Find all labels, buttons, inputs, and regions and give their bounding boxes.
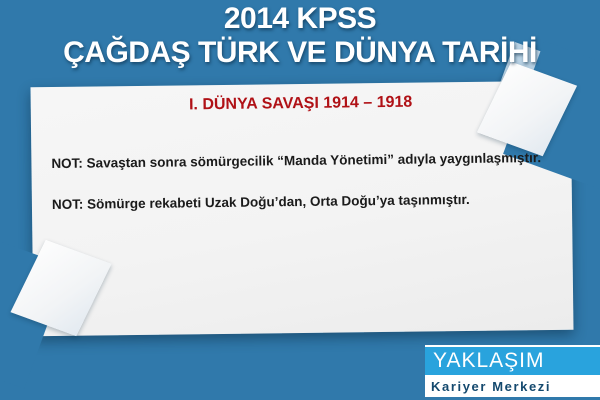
- notes-list: NOT: Savaştan sonra sömürgecilik “Manda …: [31, 148, 572, 215]
- brand-logo: YAKLAŞIM Kariyer Merkezi: [425, 345, 600, 397]
- note-item: NOT: Sömürge rekabeti Uzak Doğu’dan, Ort…: [52, 189, 552, 214]
- logo-subtitle-bar: Kariyer Merkezi: [425, 377, 600, 397]
- title-line-2: ÇAĞDAŞ TÜRK VE DÜNYA TARİHİ: [0, 36, 600, 70]
- slide-canvas: 2014 KPSS ÇAĞDAŞ TÜRK VE DÜNYA TARİHİ I.…: [0, 0, 600, 400]
- logo-name: YAKLAŞIM: [433, 349, 600, 372]
- card-content: I. DÜNYA SAVAŞI 1914 – 1918 NOT: Savaşta…: [30, 85, 573, 341]
- logo-name-bar: YAKLAŞIM: [425, 345, 600, 377]
- card-subtitle: I. DÜNYA SAVAŞI 1914 – 1918: [31, 92, 571, 117]
- title-line-1: 2014 KPSS: [0, 2, 600, 36]
- logo-subtitle: Kariyer Merkezi: [431, 379, 600, 394]
- slide-header: 2014 KPSS ÇAĞDAŞ TÜRK VE DÜNYA TARİHİ: [0, 2, 600, 70]
- note-item: NOT: Savaştan sonra sömürgecilik “Manda …: [51, 148, 551, 173]
